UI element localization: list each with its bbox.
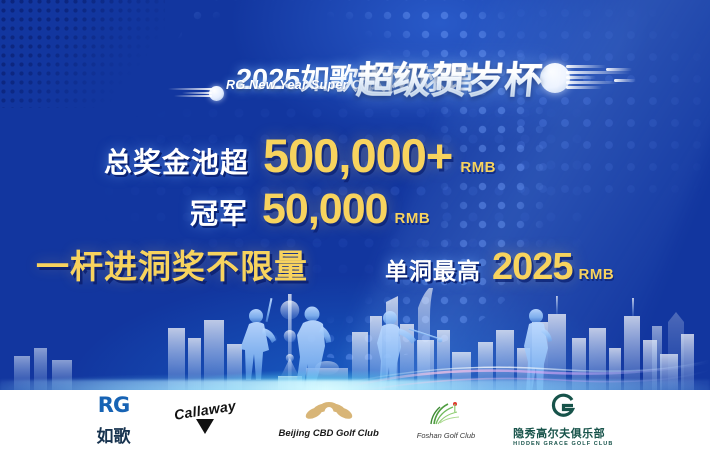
prize-amount-champion: 50,000	[262, 185, 388, 234]
rg-cn-name: 如歌	[97, 422, 131, 447]
prize-line-total-pool: 总奖金池超 500,000+ RMB	[104, 128, 496, 183]
hidden-grace-g-icon	[551, 393, 575, 422]
foshan-leaf-icon	[426, 401, 466, 430]
sponsor-logo-hidden-grace[interactable]: 隐秀高尔夫俱乐部 HIDDEN GRACE GOLF CLUB	[513, 393, 613, 447]
sponsor-logo-foshan[interactable]: Foshan Golf Club	[417, 401, 475, 440]
sponsor-logo-callaway[interactable]: Callaway	[169, 400, 241, 440]
prize-amount-total-pool: 500,000+	[263, 128, 452, 183]
callaway-chevron-icon	[196, 419, 214, 434]
sponsor-bar: RG 如歌 Callaway Beijing	[0, 390, 710, 450]
title-english-subtitle: RG New Year Super Cup	[226, 78, 377, 92]
prize-currency-champion: RMB	[395, 210, 431, 227]
sponsor-logo-beijing-cbd[interactable]: Beijing CBD Golf Club	[279, 401, 379, 439]
prize-label-total-pool: 总奖金池超	[104, 141, 249, 181]
hidden-grace-cn-name: 隐秀高尔夫俱乐部	[513, 428, 613, 441]
prize-line-champion: 冠军 50,000 RMB	[190, 185, 430, 234]
promo-poster: 2025如歌联网球馆 RG New Year Super Cup 超级贺岁杯 总…	[0, 0, 710, 450]
city-skyline-illustration	[0, 272, 710, 392]
prize-currency-total-pool: RMB	[460, 159, 496, 176]
hidden-grace-en-name: HIDDEN GRACE GOLF CLUB	[513, 441, 613, 447]
sponsor-logo-rg-ruge[interactable]: RG 如歌	[97, 393, 131, 447]
title-main-cn: 超级贺岁杯	[355, 50, 545, 104]
golfer-silhouette-1	[240, 298, 276, 380]
cbd-fan-icon	[303, 401, 355, 428]
rg-wordmark: RG	[98, 393, 129, 417]
prize-label-champion: 冠军	[190, 192, 248, 232]
cbd-name: Beijing CBD Golf Club	[279, 428, 379, 439]
foshan-name: Foshan Golf Club	[417, 431, 475, 440]
